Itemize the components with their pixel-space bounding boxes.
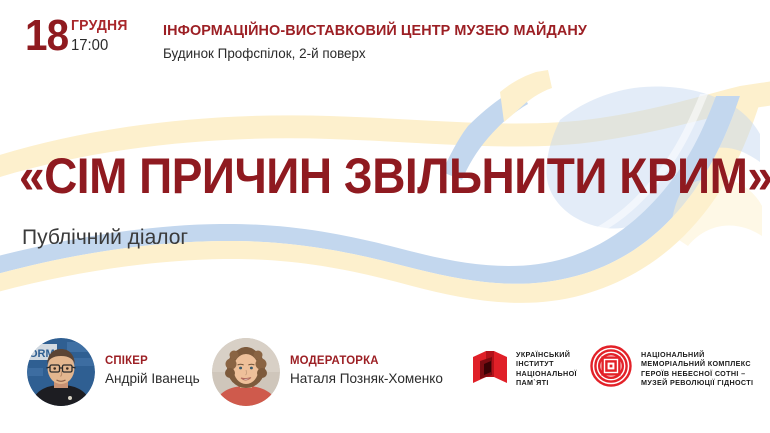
poster-header: 18 ГРУДНЯ 17:00 ІНФОРМАЦІЙНО-ВИСТАВКОВИЙ… [0, 0, 770, 80]
logo-nmk-text: НАЦІОНАЛЬНИЙ МЕМОРІАЛЬНИЙ КОМПЛЕКС ГЕРОЇ… [641, 350, 753, 386]
logo-uinp-text: УКРАЇНСЬКИЙ ІНСТИТУТ НАЦІОНАЛЬНОЇ ПАМ`ЯТ… [516, 350, 577, 386]
event-time: 17:00 [71, 38, 108, 54]
logo-uinp-line-2: ІНСТИТУТ [516, 359, 554, 368]
logo-nmk-line-4: МУЗЕЙ РЕВОЛЮЦІЇ ГІДНОСТІ [641, 378, 753, 387]
venue-subtitle: Будинок Профспілок, 2-й поверх [163, 46, 366, 61]
avatar-natalia-pozniak-khomenko [212, 338, 280, 406]
ukrainian-institute-of-national-memory-logo-icon [472, 347, 508, 390]
event-day: 18 [25, 14, 68, 58]
logo-nmk-line-3: ГЕРОЇВ НЕБЕСНОЇ СОТНІ – [641, 369, 745, 378]
logo-national-memorial-complex: НАЦІОНАЛЬНИЙ МЕМОРІАЛЬНИЙ КОМПЛЕКС ГЕРОЇ… [590, 345, 753, 392]
speaker-name: Андрій Іванець [105, 370, 200, 386]
event-poster: 18 ГРУДНЯ 17:00 ІНФОРМАЦІЙНО-ВИСТАВКОВИЙ… [0, 0, 770, 433]
avatar-andrii-ivanets: ORM [27, 338, 95, 406]
logo-uinp-line-1: УКРАЇНСЬКИЙ [516, 350, 570, 359]
event-title: «СІМ ПРИЧИН ЗВІЛЬНИТИ КРИМ» [19, 151, 770, 201]
event-subtitle: Публічний діалог [22, 227, 188, 249]
moderator-block: МОДЕРАТОРКА Наталя Позняк-Хоменко [212, 338, 280, 406]
moderator-name: Наталя Позняк-Хоменко [290, 370, 443, 386]
logo-uinp-line-3: НАЦІОНАЛЬНОЇ [516, 369, 577, 378]
moderator-text: МОДЕРАТОРКА Наталя Позняк-Хоменко [290, 354, 448, 386]
national-memorial-complex-logo-icon [590, 345, 632, 392]
logo-ukrainian-institute-of-national-memory: УКРАЇНСЬКИЙ ІНСТИТУТ НАЦІОНАЛЬНОЇ ПАМ`ЯТ… [472, 347, 577, 390]
moderator-role: МОДЕРАТОРКА [290, 354, 440, 367]
speaker-block: ORM [27, 338, 95, 406]
venue-title: ІНФОРМАЦІЙНО-ВИСТАВКОВИЙ ЦЕНТР МУЗЕЮ МАЙ… [163, 23, 587, 39]
speaker-text: СПІКЕР Андрій Іванець [105, 354, 203, 386]
logo-nmk-line-2: МЕМОРІАЛЬНИЙ КОМПЛЕКС [641, 359, 751, 368]
logo-nmk-line-1: НАЦІОНАЛЬНИЙ [641, 350, 705, 359]
logo-uinp-line-4: ПАМ`ЯТІ [516, 378, 549, 387]
event-month: ГРУДНЯ [71, 18, 128, 33]
speaker-role: СПІКЕР [105, 354, 198, 367]
